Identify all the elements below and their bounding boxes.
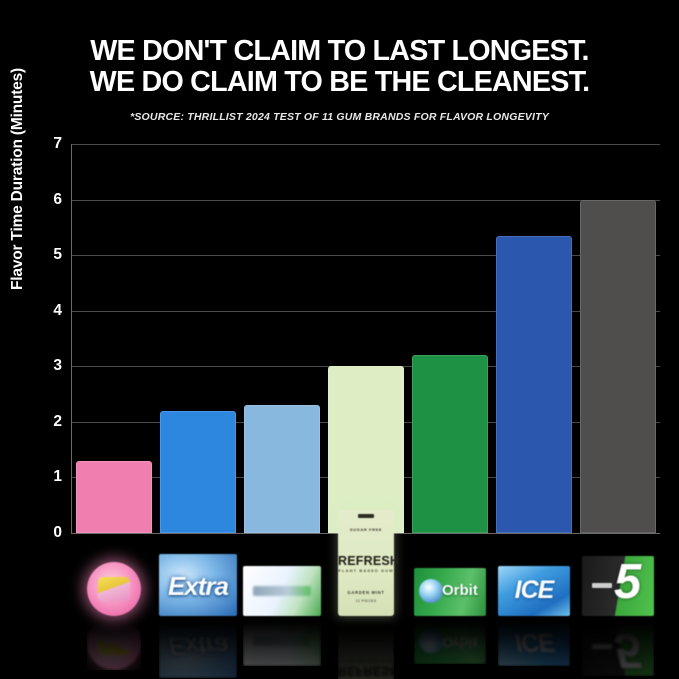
extra-reflection [159, 616, 237, 678]
five-gum-reflection [582, 616, 654, 676]
refresh-brand: REFRESH [338, 554, 394, 568]
y-tick-label-2: 2 [22, 413, 62, 431]
y-tick-label-6: 6 [22, 191, 62, 209]
y-tick-label-5: 5 [22, 246, 62, 264]
pack-notch [358, 514, 374, 518]
y-tick-label-1: 1 [22, 468, 62, 486]
refresh-tagline: PLANT BASED GUM [338, 568, 394, 573]
extra-pack-art [159, 616, 237, 678]
y-tick-label-0: 0 [22, 524, 62, 542]
refresh-reflection: SUGAR FREEREFRESHPLANT BASED GUMGARDEN M… [338, 616, 394, 679]
y-tick-label-3: 3 [22, 357, 62, 375]
product-extra [156, 534, 240, 679]
y-tick-label-7: 7 [22, 135, 62, 153]
product-refresh: SUGAR FREEREFRESHPLANT BASED GUMGARDEN M… [324, 534, 408, 679]
bubble-yum-pack-art [87, 562, 141, 616]
bubble-yum-reflection [87, 616, 141, 670]
wrigleys-pack-art [243, 616, 321, 666]
bar-extra [160, 411, 237, 533]
orbit-reflection [414, 616, 486, 664]
product-image-strip: SUGAR FREEREFRESHPLANT BASED GUMGARDEN M… [72, 534, 660, 679]
plot-area [72, 144, 660, 533]
bubble-yum-pack-art [87, 616, 141, 670]
refresh-flavor: GARDEN MINT [338, 590, 394, 595]
orbit-pack-art [414, 616, 486, 664]
extra-pack-art [159, 554, 237, 616]
gridline-6 [72, 200, 660, 201]
five-gum-pack-art [582, 616, 654, 676]
bar-five-gum [580, 200, 657, 533]
y-tick-label-4: 4 [22, 302, 62, 320]
product-orbit [408, 534, 492, 679]
wrigleys-reflection [243, 616, 321, 666]
orbit-pack-art [414, 568, 486, 616]
product-ice-breakers [492, 534, 576, 679]
refresh-count: 12 PIECES [338, 629, 394, 633]
refresh-flavor: GARDEN MINT [338, 637, 394, 642]
product-five-gum [576, 534, 660, 679]
product-bubble-yum [72, 534, 156, 679]
refresh-brand: REFRESH [338, 664, 394, 678]
refresh-pack-art: SUGAR FREEREFRESHPLANT BASED GUMGARDEN M… [338, 616, 394, 679]
ice-breakers-reflection [498, 616, 570, 666]
refresh-tagline: PLANT BASED GUM [338, 659, 394, 664]
ice-breakers-pack-art [498, 616, 570, 666]
ice-breakers-pack-art [498, 566, 570, 616]
product-wrigleys [240, 534, 324, 679]
advertisement-chart-page: WE DON'T CLAIM TO LAST LONGEST. WE DO CL… [0, 0, 679, 679]
gridline-7 [72, 144, 660, 145]
bar-orbit [412, 355, 489, 533]
bar-bubble-yum [76, 461, 153, 533]
wrigleys-pack-art [243, 566, 321, 616]
bar-ice-breakers [496, 236, 573, 533]
five-gum-pack-art [582, 556, 654, 616]
bar-wrigleys [244, 405, 321, 533]
refresh-count: 12 PIECES [338, 599, 394, 603]
refresh-pack-art: SUGAR FREEREFRESHPLANT BASED GUMGARDEN M… [338, 510, 394, 616]
refresh-sugar-free: SUGAR FREE [338, 527, 394, 532]
bar-refresh [328, 366, 405, 533]
